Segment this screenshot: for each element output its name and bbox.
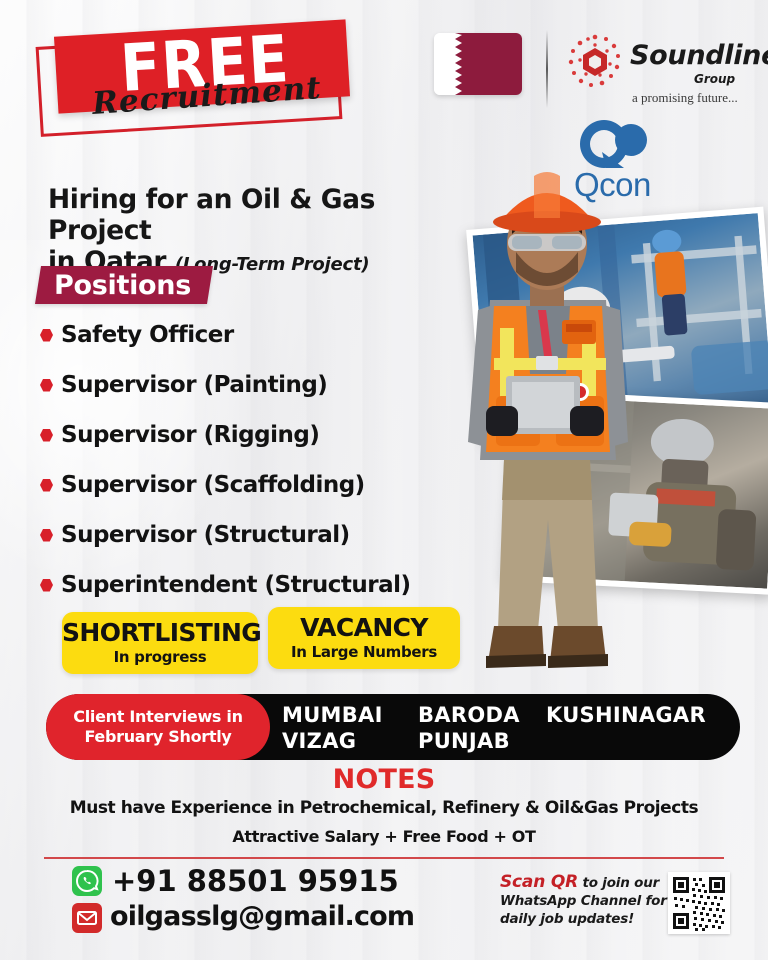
qatar-flag-icon — [434, 33, 522, 95]
city-label: KUSHINAGAR — [546, 703, 732, 727]
bullet-icon — [40, 429, 53, 442]
city-label — [546, 729, 732, 753]
list-item: Superintendent (Structural) — [40, 560, 470, 610]
recruitment-poster: FREE Recruitment Soundlines Group a prom… — [0, 0, 768, 960]
notes-heading: NOTES — [0, 764, 768, 795]
city-label: BARODA — [418, 703, 546, 727]
email-address[interactable]: oilgasslg@gmail.com — [110, 901, 414, 932]
envelope-icon[interactable] — [72, 903, 102, 933]
notes-line-2: Attractive Salary + Free Food + OT — [0, 827, 768, 846]
scan-qr-text: Scan QR to join our WhatsApp Channel for… — [500, 872, 670, 928]
positions-list: Safety Officer Supervisor (Painting) Sup… — [40, 310, 470, 610]
interview-pill-line2: February Shortly — [84, 727, 231, 746]
headline-line1: Hiring for an Oil & Gas Project — [48, 184, 375, 246]
list-item: Supervisor (Scaffolding) — [40, 460, 470, 510]
bullet-icon — [40, 529, 53, 542]
bullet-icon — [40, 579, 53, 592]
status-badge-vacancy: VACANCY In Large Numbers — [268, 607, 460, 669]
notes-line-1: Must have Experience in Petrochemical, R… — [0, 798, 768, 818]
bullet-icon — [40, 329, 53, 342]
positions-banner-label: Positions — [54, 270, 191, 301]
list-item: Safety Officer — [40, 310, 470, 360]
city-label: PUNJAB — [418, 729, 546, 753]
status-badge-shortlisting: SHORTLISTING In progress — [62, 612, 258, 674]
whatsapp-icon[interactable] — [72, 866, 102, 896]
city-label: VIZAG — [282, 729, 418, 753]
header-divider — [546, 30, 548, 108]
position-label: Supervisor (Structural) — [61, 522, 350, 548]
footer-divider — [44, 857, 724, 859]
interview-pill-line1: Client Interviews in — [73, 707, 242, 726]
position-label: Safety Officer — [61, 322, 234, 348]
position-label: Superintendent (Structural) — [61, 572, 411, 598]
soundlines-name: Soundlines — [630, 40, 768, 71]
badge-title: VACANCY — [268, 613, 460, 642]
list-item: Supervisor (Rigging) — [40, 410, 470, 460]
badge-subtitle: In progress — [62, 648, 258, 666]
soundlines-tagline: a promising future... — [632, 90, 738, 106]
bullet-icon — [40, 379, 53, 392]
scan-qr-highlight: Scan QR — [500, 872, 578, 892]
phone-number[interactable]: +91 88501 95915 — [112, 864, 399, 898]
client-interviews-pill: Client Interviews in February Shortly — [46, 694, 270, 760]
position-label: Supervisor (Rigging) — [61, 422, 319, 448]
list-item: Supervisor (Painting) — [40, 360, 470, 410]
position-label: Supervisor (Painting) — [61, 372, 327, 398]
qr-code[interactable] — [668, 872, 730, 934]
list-item: Supervisor (Structural) — [40, 510, 470, 560]
interview-cities: MUMBAI BARODA KUSHINAGAR VIZAG PUNJAB — [282, 699, 732, 757]
soundlines-group-label: Group — [694, 72, 735, 86]
city-label: MUMBAI — [282, 703, 418, 727]
soundlines-logo-icon — [566, 33, 624, 91]
badge-subtitle: In Large Numbers — [268, 643, 460, 661]
badge-title: SHORTLISTING — [62, 618, 258, 647]
worker-photo-main — [430, 160, 666, 700]
position-label: Supervisor (Scaffolding) — [61, 472, 365, 498]
bullet-icon — [40, 479, 53, 492]
